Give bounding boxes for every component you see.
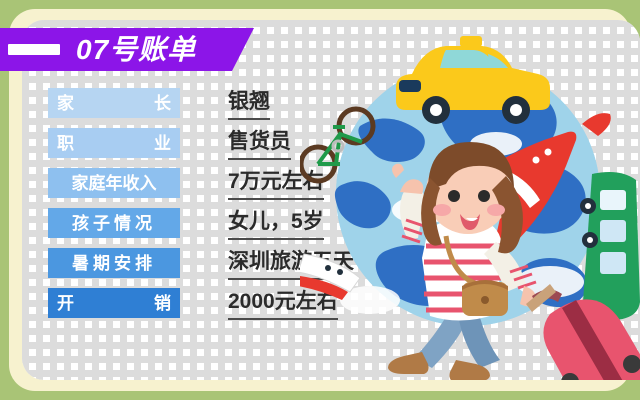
row-value-parent: 银翘 bbox=[228, 87, 270, 120]
label-char: 业 bbox=[154, 135, 171, 152]
row-label-text: 暑期安排 bbox=[72, 255, 156, 272]
illustration-group bbox=[300, 14, 640, 380]
label-char: 职 bbox=[57, 135, 74, 152]
illustration-svg bbox=[300, 14, 640, 380]
poster-root: 07号账单 家 长 银翘 职 业 售货员 家庭年收入 7万元左右 孩子情 bbox=[0, 0, 640, 400]
row-label-box-income: 家庭年收入 bbox=[48, 168, 180, 198]
page-title: 07号账单 bbox=[76, 36, 196, 64]
label-char: 长 bbox=[154, 95, 171, 112]
row-label-text: 家庭年收入 bbox=[72, 175, 157, 192]
horizontal-dash-icon bbox=[8, 44, 60, 55]
row-label-box-summer-plan: 暑期安排 bbox=[48, 248, 180, 278]
label-char: 家 bbox=[57, 95, 74, 112]
title-banner: 07号账单 bbox=[0, 28, 254, 71]
row-label-box-expense: 开 销 bbox=[48, 288, 180, 318]
label-char: 开 bbox=[57, 295, 74, 312]
label-char: 销 bbox=[154, 295, 171, 312]
row-label-box-occupation: 职 业 bbox=[48, 128, 180, 158]
row-label-box-parent: 家 长 bbox=[48, 88, 180, 118]
row-value-occupation: 售货员 bbox=[228, 127, 291, 160]
row-label-box-child: 孩子情况 bbox=[48, 208, 180, 238]
row-label-text: 孩子情况 bbox=[72, 215, 156, 232]
